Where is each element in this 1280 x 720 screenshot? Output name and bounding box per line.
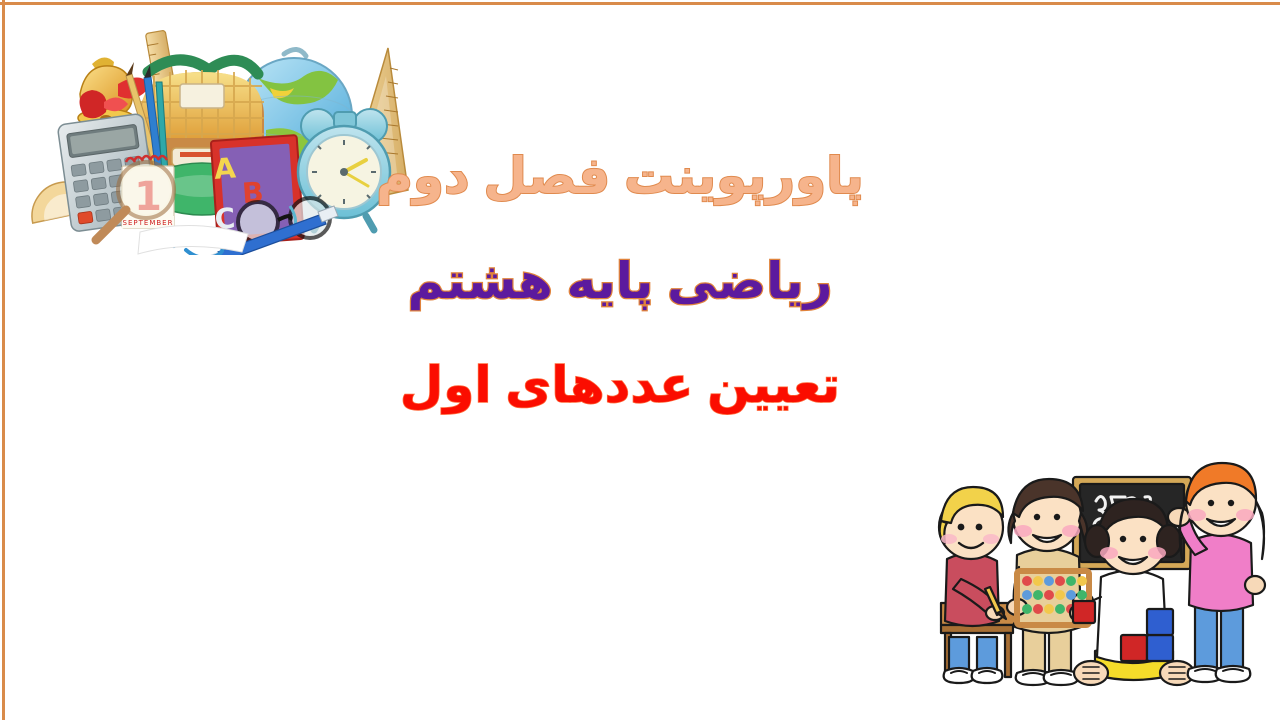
title-line-topic: تعیین عددهای اول bbox=[300, 359, 940, 412]
paper-sheet bbox=[138, 225, 248, 254]
kid-abacus-girl bbox=[1007, 479, 1093, 685]
classroom-kids-clipart bbox=[905, 455, 1280, 717]
slide-title-block: پاورپوینت فصل دوم ریاضی پایه هشتم تعیین … bbox=[300, 150, 940, 412]
slide-canvas: 1 SEPTEMBER A B C bbox=[0, 0, 1280, 720]
svg-text:A: A bbox=[213, 151, 237, 185]
slide-top-border bbox=[0, 2, 1280, 5]
slide-left-border bbox=[2, 0, 5, 720]
svg-text:SEPTEMBER: SEPTEMBER bbox=[123, 219, 174, 227]
title-line-subject: ریاضی پایه هشتم bbox=[300, 255, 940, 308]
title-line-chapter: پاورپوینت فصل دوم bbox=[300, 150, 940, 203]
kid-blond-boy bbox=[939, 487, 1006, 683]
